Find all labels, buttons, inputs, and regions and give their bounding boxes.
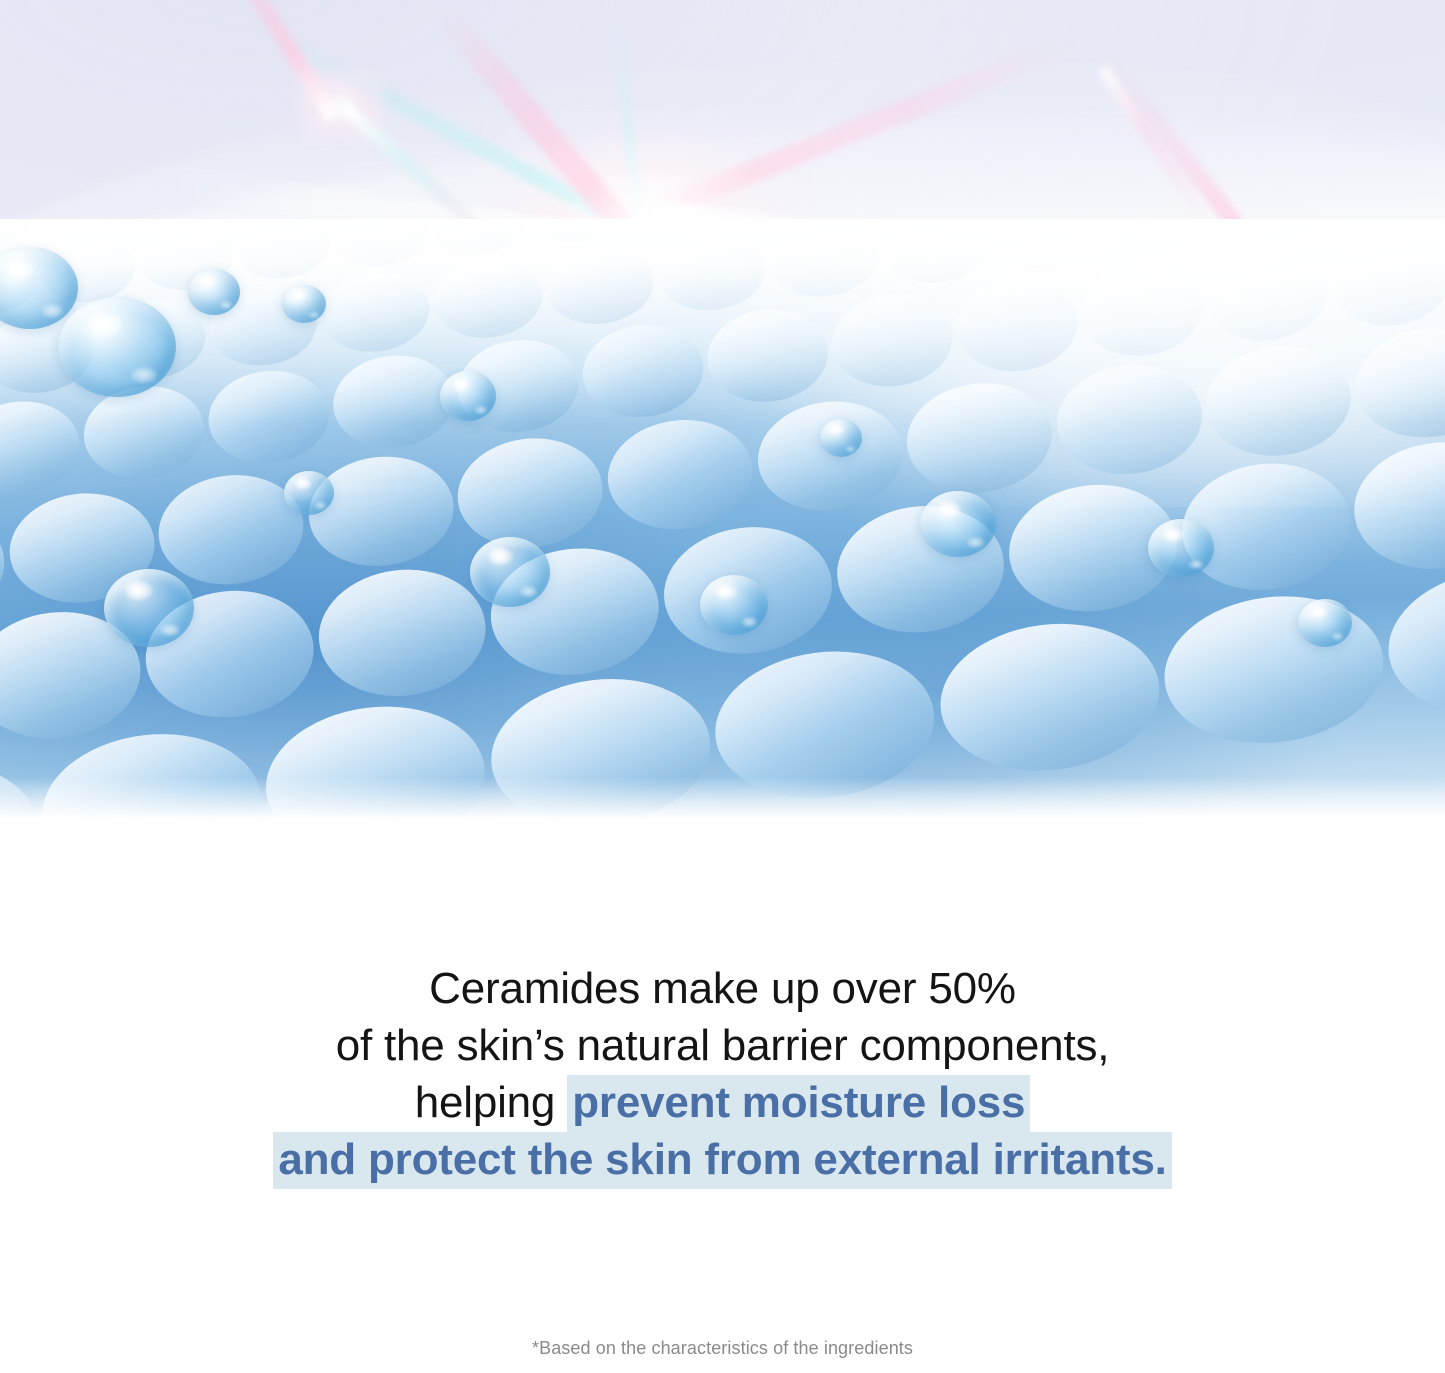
ceramide-cell	[901, 375, 1058, 500]
ceramide-cell	[1051, 357, 1208, 482]
hero-bottom-fade	[0, 777, 1445, 819]
water-droplet-icon	[1148, 519, 1214, 577]
light-flare-secondary-icon	[295, 69, 385, 143]
ceramide-cell	[328, 349, 459, 455]
ceramide-cell	[602, 412, 759, 537]
ceramide-cell	[1326, 226, 1445, 332]
ceramide-cell	[204, 364, 335, 470]
water-droplet-icon	[440, 371, 496, 421]
ceramide-cell	[311, 561, 493, 706]
product-detail-panel: Ceramides make up over 50% of the skin’s…	[0, 0, 1445, 1373]
ceramide-cell	[0, 504, 11, 629]
water-droplet-icon	[700, 575, 768, 635]
ceramide-cell	[429, 253, 546, 344]
copy-line-2-text: of the skin’s natural barrier components…	[336, 1021, 1110, 1070]
copy-line-3-plain-text: helping	[415, 1078, 568, 1127]
water-droplet-icon	[58, 297, 176, 397]
water-droplet-icon	[284, 471, 334, 515]
marketing-copy-block: Ceramides make up over 50% of the skin’s…	[0, 960, 1445, 1188]
ceramide-cell	[317, 267, 434, 358]
ingredient-disclaimer-footnote: *Based on the characteristics of the ing…	[0, 1338, 1445, 1359]
ceramide-cell	[452, 430, 609, 555]
ceramide-cell	[302, 449, 459, 574]
ceramide-cell	[654, 226, 771, 317]
ceramide-cell	[1439, 219, 1445, 220]
ceramide-cell	[1350, 320, 1445, 445]
skin-barrier-hero-image	[0, 0, 1445, 819]
ceramide-cell	[703, 303, 834, 409]
ceramide-cell	[1077, 257, 1208, 363]
ceramide-cell	[932, 613, 1168, 784]
copy-line-2: of the skin’s natural barrier components…	[0, 1017, 1445, 1074]
ceramide-cell	[233, 219, 334, 284]
ceramide-cell	[0, 395, 85, 501]
copy-line-1-text: Ceramides make up over 50%	[429, 964, 1016, 1013]
ceramide-cell	[990, 219, 1107, 275]
ceramide-cell	[1200, 338, 1357, 463]
ceramide-cell	[1156, 585, 1392, 756]
copy-line-3: helping prevent moisture loss	[0, 1074, 1445, 1131]
copy-line-4: and protect the skin from external irrit…	[0, 1131, 1445, 1188]
copy-line-1: Ceramides make up over 50%	[0, 960, 1445, 1017]
water-droplet-icon	[282, 285, 326, 323]
water-droplet-icon	[104, 569, 194, 647]
ceramide-cell	[578, 318, 709, 424]
ceramide-cell	[878, 219, 995, 289]
ceramide-cell	[79, 379, 210, 485]
copy-line-3-highlight-text: prevent moisture loss	[567, 1075, 1030, 1132]
ceramide-cell	[1348, 434, 1445, 579]
water-droplet-icon	[188, 269, 240, 315]
ceramide-cell	[751, 393, 908, 518]
ceramide-cell	[952, 272, 1083, 378]
ceramide-cell	[1381, 557, 1445, 728]
ceramide-cell	[827, 288, 958, 394]
water-droplet-icon	[920, 491, 996, 557]
ceramide-cell	[766, 219, 883, 303]
water-droplet-icon	[820, 419, 862, 457]
ceramide-cell-field	[0, 219, 1445, 819]
water-droplet-icon	[470, 537, 550, 607]
ceramide-cell	[428, 219, 529, 260]
copy-line-4-highlight-text: and protect the skin from external irrit…	[273, 1132, 1171, 1189]
water-droplet-icon	[1298, 599, 1352, 647]
ceramide-cell	[331, 219, 432, 272]
ceramide-cell	[1201, 242, 1332, 348]
ceramide-cell	[541, 239, 658, 330]
